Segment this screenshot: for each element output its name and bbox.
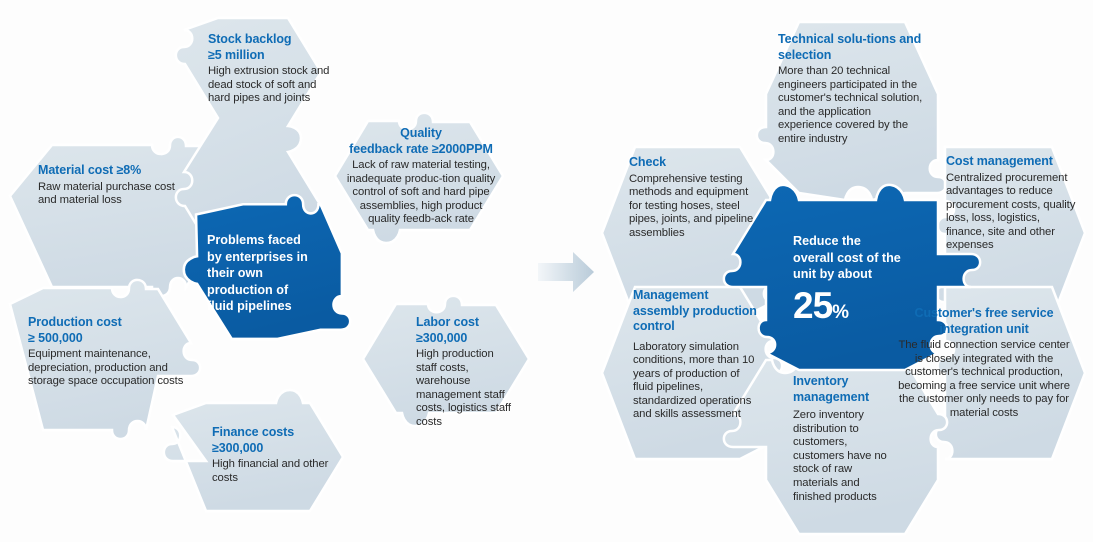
right-node-management-assembly-body: Laboratory simulation conditions, more t… <box>633 341 761 423</box>
right-node-cost-management-body: Centralized procurement advantages to re… <box>946 172 1078 254</box>
left-node-quality-feedback-rate-body: Lack of raw material testing, inadequate… <box>343 159 499 227</box>
puzzle-shapes-layer <box>0 0 1093 542</box>
right-node-technical-solutions[interactable]: Technical solu-tions and selection More … <box>778 32 924 147</box>
left-center-label: Problems faced by enterprises in their o… <box>207 232 315 315</box>
right-node-check-body: Comprehensive testing methods and equipm… <box>629 173 759 241</box>
right-arrow-icon <box>538 252 594 292</box>
left-node-finance-costs-heading: Finance costs ≥300,000 <box>212 425 332 456</box>
right-center-percentage: 25% <box>793 287 903 324</box>
right-node-technical-solutions-heading: Technical solu-tions and selection <box>778 32 924 63</box>
right-node-technical-solutions-body: More than 20 technical engineers partici… <box>778 65 924 147</box>
right-node-customers-free-service-heading: Customer's free service integration unit <box>898 306 1070 337</box>
right-node-management-assembly-heading: Management assembly production control <box>633 288 761 335</box>
right-node-management-assembly[interactable]: Management assembly production control L… <box>633 288 761 422</box>
left-node-quality-feedback-rate[interactable]: Quality feedback rate ≥2000PPM Lack of r… <box>343 126 499 227</box>
left-node-finance-costs-body: High financial and other costs <box>212 458 332 485</box>
right-center-percentage-value: 25 <box>793 285 832 326</box>
left-node-production-cost-body: Equipment maintenance, depreciation, pro… <box>28 348 188 389</box>
left-node-finance-costs[interactable]: Finance costs ≥300,000 High financial an… <box>212 425 332 485</box>
left-node-material-cost[interactable]: Material cost ≥8% Raw material purchase … <box>38 163 188 208</box>
right-node-cost-management-heading: Cost management <box>946 154 1078 170</box>
left-node-production-cost-heading: Production cost ≥ 500,000 <box>28 315 188 346</box>
left-node-stock-backlog-heading: Stock backlog ≥5 million <box>208 32 330 63</box>
left-node-stock-backlog-body: High extrusion stock and dead stock of s… <box>208 65 330 106</box>
right-node-inventory-management-heading: Inventory management <box>793 374 891 405</box>
left-node-material-cost-body: Raw material purchase cost and material … <box>38 181 188 208</box>
right-node-check-heading: Check <box>629 155 759 171</box>
left-node-labor-cost-body: High production staff costs, warehouse m… <box>416 348 512 430</box>
left-node-labor-cost-heading: Labor cost ≥300,000 <box>416 315 512 346</box>
right-node-check[interactable]: Check Comprehensive testing methods and … <box>629 155 759 240</box>
infographic-canvas: Stock backlog ≥5 million High extrusion … <box>0 0 1093 542</box>
right-node-inventory-management[interactable]: Inventory management Zero inventory dist… <box>793 374 891 504</box>
right-center-percentage-unit: % <box>832 302 849 323</box>
left-node-labor-cost[interactable]: Labor cost ≥300,000 High production staf… <box>416 315 512 430</box>
right-node-customers-free-service-body: The fluid connection service center is c… <box>898 339 1070 421</box>
left-center-title: Problems faced by enterprises in their o… <box>207 232 315 315</box>
left-node-quality-feedback-rate-heading: Quality feedback rate ≥2000PPM <box>343 126 499 157</box>
left-node-production-cost[interactable]: Production cost ≥ 500,000 Equipment main… <box>28 315 188 389</box>
right-center-title: Reduce the overall cost of the unit by a… <box>793 233 903 283</box>
left-node-stock-backlog[interactable]: Stock backlog ≥5 million High extrusion … <box>208 32 330 106</box>
right-node-inventory-management-body: Zero inventory distribution to customers… <box>793 409 891 504</box>
right-node-customers-free-service[interactable]: Customer's free service integration unit… <box>898 306 1070 421</box>
left-node-material-cost-heading: Material cost ≥8% <box>38 163 188 179</box>
right-center-label: Reduce the overall cost of the unit by a… <box>793 233 903 324</box>
right-node-cost-management[interactable]: Cost management Centralized procurement … <box>946 154 1078 253</box>
